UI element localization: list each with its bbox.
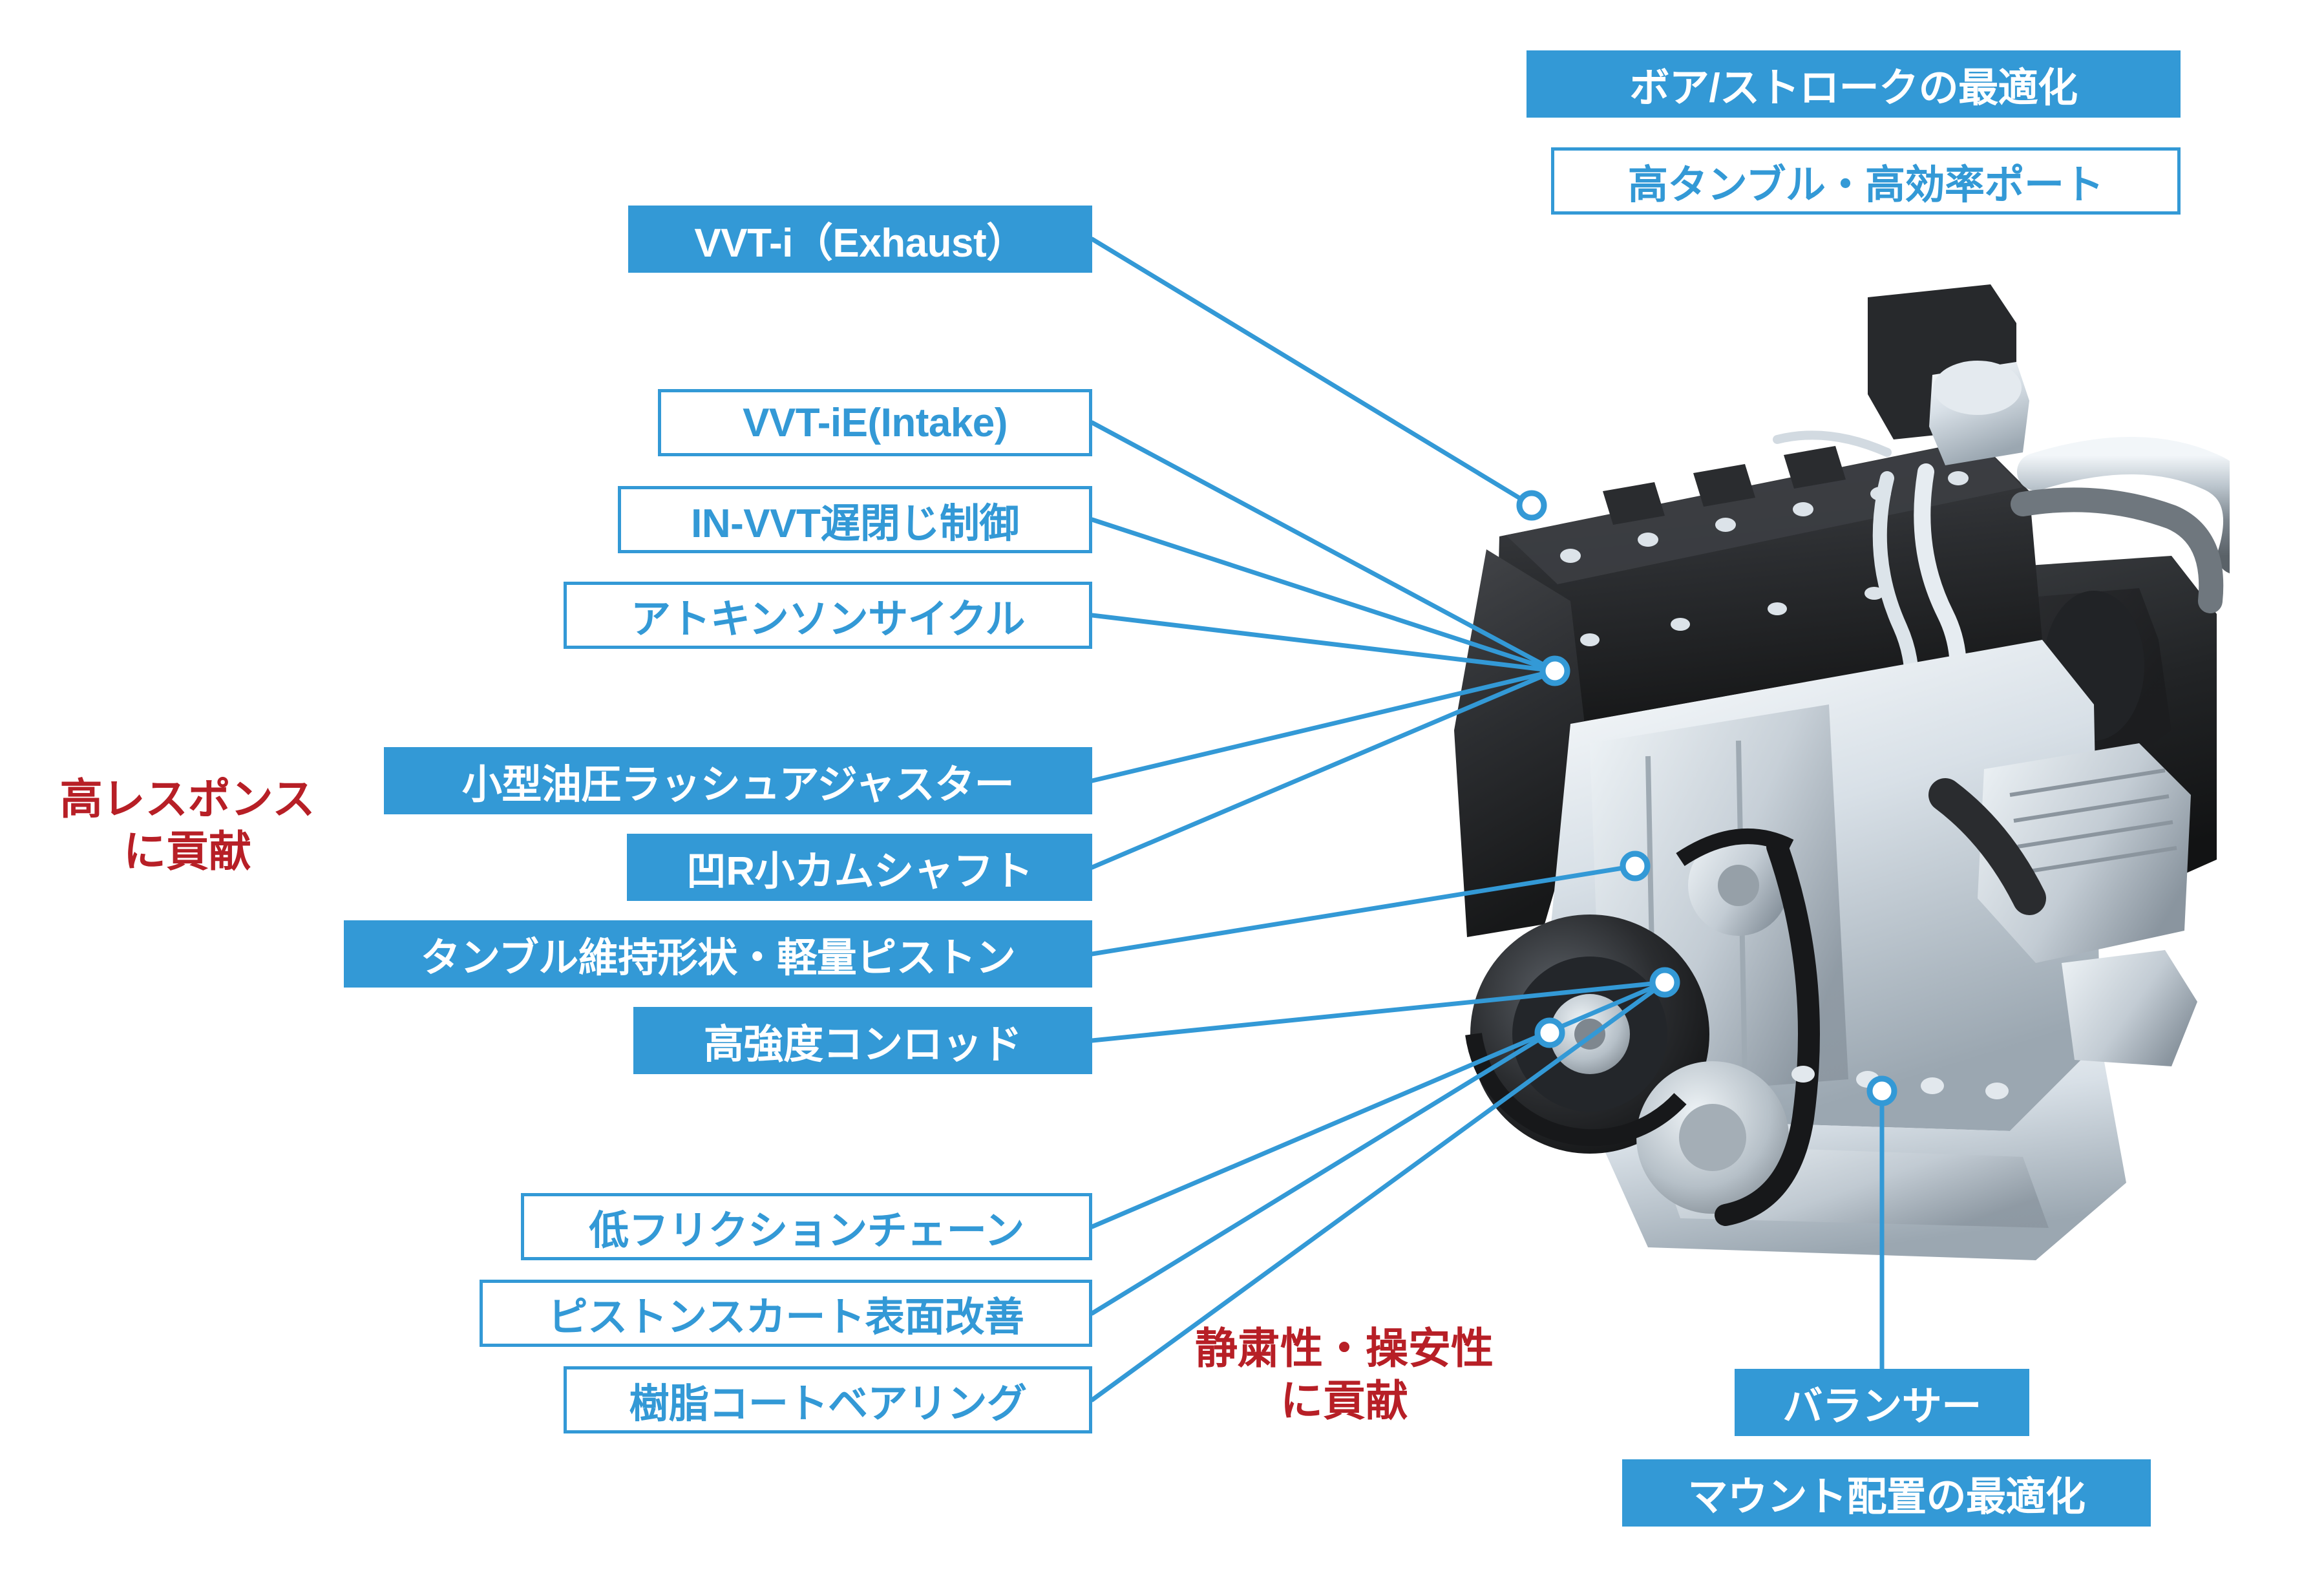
annotation-line-1: 静粛性・操安性 [1144,1322,1545,1375]
crank-pulley-bolt [1574,1019,1605,1050]
label-tumble-light-piston[interactable]: タンブル維持形状・軽量ピストン [344,920,1092,988]
annotation-line-2: に貢献 [1144,1375,1545,1427]
label-vvt-i-exhaust[interactable]: VVT-i（Exhaust） [628,206,1092,273]
mount-bracket [2062,950,2197,1066]
label-atkinson-cycle[interactable]: アトキンソンサイクル [564,582,1092,649]
label-mount-layout[interactable]: マウント配置の最適化 [1622,1459,2151,1527]
annotation-high-response: 高レスポンスに貢献 [6,773,368,877]
label-bore-stroke[interactable]: ボア/ストロークの最適化 [1526,50,2181,118]
idler-pulley-hub [1679,1104,1746,1171]
label-balancer[interactable]: バランサー [1735,1369,2029,1436]
label-high-strength-rod[interactable]: 高強度コンロッド [633,1007,1092,1074]
throttle-flange [1934,361,2022,415]
tensioner-hub [1718,865,1759,906]
label-resin-bearing[interactable]: 樹脂コートベアリング [564,1366,1092,1433]
label-compact-lash-adj[interactable]: 小型油圧ラッシュアジャスター [384,747,1092,814]
label-high-tumble-port[interactable]: 高タンブル・高効率ポート [1551,147,2181,215]
annotation-quiet-stability: 静粛性・操安性に貢献 [1144,1322,1545,1426]
label-piston-skirt[interactable]: ピストンスカート表面改善 [480,1280,1092,1347]
annotation-line-2: に貢献 [6,825,368,878]
label-low-friction-chain[interactable]: 低フリクションチェーン [521,1193,1092,1260]
label-small-r-camshaft[interactable]: 凹R小カムシャフト [627,834,1092,901]
annotation-line-1: 高レスポンス [6,773,368,825]
label-in-vvt-late-close[interactable]: IN-VVT遅閉じ制御 [618,486,1092,553]
label-vvt-ie-intake[interactable]: VVT-iE(Intake) [658,389,1092,456]
engine-technology-diagram: ボア/ストロークの最適化高タンブル・高効率ポートVVT-i（Exhaust）VV… [0,0,2324,1586]
engine-photo [1377,278,2230,1318]
